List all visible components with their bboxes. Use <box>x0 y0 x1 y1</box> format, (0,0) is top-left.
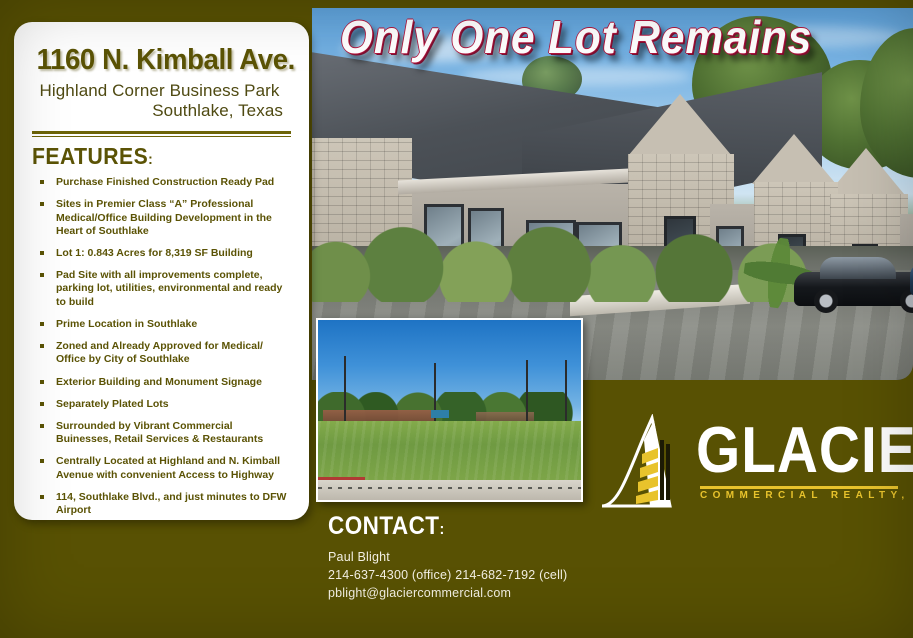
contact-heading: CONTACT: <box>328 512 543 541</box>
logo-tagline: COMMERCIAL REALTY, L.P. <box>700 490 913 501</box>
contact-email[interactable]: pblight@glaciercommercial.com <box>328 585 567 603</box>
contact-phone-cell: 214-682-7192 (cell) <box>455 568 567 582</box>
divider <box>32 131 291 137</box>
list-item: Separately Plated Lots <box>34 398 289 411</box>
subtitle: Highland Corner Business Park Southlake,… <box>30 81 293 121</box>
utility-pole <box>565 360 567 428</box>
inset-grass-lot <box>318 421 581 480</box>
contact-block: CONTACT: Paul Blight 214-637-4300 (offic… <box>328 512 567 602</box>
list-item: Centrally Located at Highland and N. Kim… <box>34 455 289 481</box>
logo-underline <box>700 486 898 489</box>
list-item: Sites in Premier Class “A” Professional … <box>34 198 289 238</box>
street-sign <box>431 410 449 418</box>
contact-details: Paul Blight 214-637-4300 (office) 214-68… <box>328 549 567 602</box>
inset-concrete-curb <box>318 480 581 500</box>
building-gable <box>628 94 732 156</box>
list-item: Lot 1: 0.843 Acres for 8,319 SF Building <box>34 247 289 260</box>
building-gable <box>828 148 904 194</box>
flyer-page: Only One Lot Remains 1160 N. Kimball Ave… <box>0 0 913 638</box>
list-item: Surrounded by Vibrant Commercial Buiness… <box>34 420 289 446</box>
features-list: Purchase Finished Construction Ready Pad… <box>30 176 293 517</box>
page-title: 1160 N. Kimball Ave. <box>37 44 287 77</box>
features-heading: FEATURES: <box>32 143 272 170</box>
building-gable <box>752 134 836 184</box>
list-item: Zoned and Already Approved for Medical/ … <box>34 340 289 366</box>
parked-car <box>794 272 913 306</box>
utility-pole <box>344 356 346 428</box>
business-park-name: Highland Corner Business Park <box>30 81 289 101</box>
glacier-mark-icon <box>600 414 696 510</box>
list-item: Purchase Finished Construction Ready Pad <box>34 176 289 189</box>
logo-wordmark: GLACIER <box>696 418 913 483</box>
city-state: Southlake, Texas <box>30 101 289 121</box>
list-item: Prime Location in Southlake <box>34 318 289 331</box>
lot-photo-inset <box>316 318 583 502</box>
contact-phone-office: 214-637-4300 (office) <box>328 568 452 582</box>
list-item: 114, Southlake Blvd., and just minutes t… <box>34 491 289 517</box>
headline-banner: Only One Lot Remains <box>340 14 812 60</box>
details-card: 1160 N. Kimball Ave. Highland Corner Bus… <box>14 22 309 520</box>
contact-name: Paul Blight <box>328 549 567 567</box>
list-item: Pad Site with all improvements complete,… <box>34 269 289 309</box>
glacier-logo: GLACIER COMMERCIAL REALTY, L.P. <box>600 414 900 510</box>
list-item: Exterior Building and Monument Signage <box>34 376 289 389</box>
